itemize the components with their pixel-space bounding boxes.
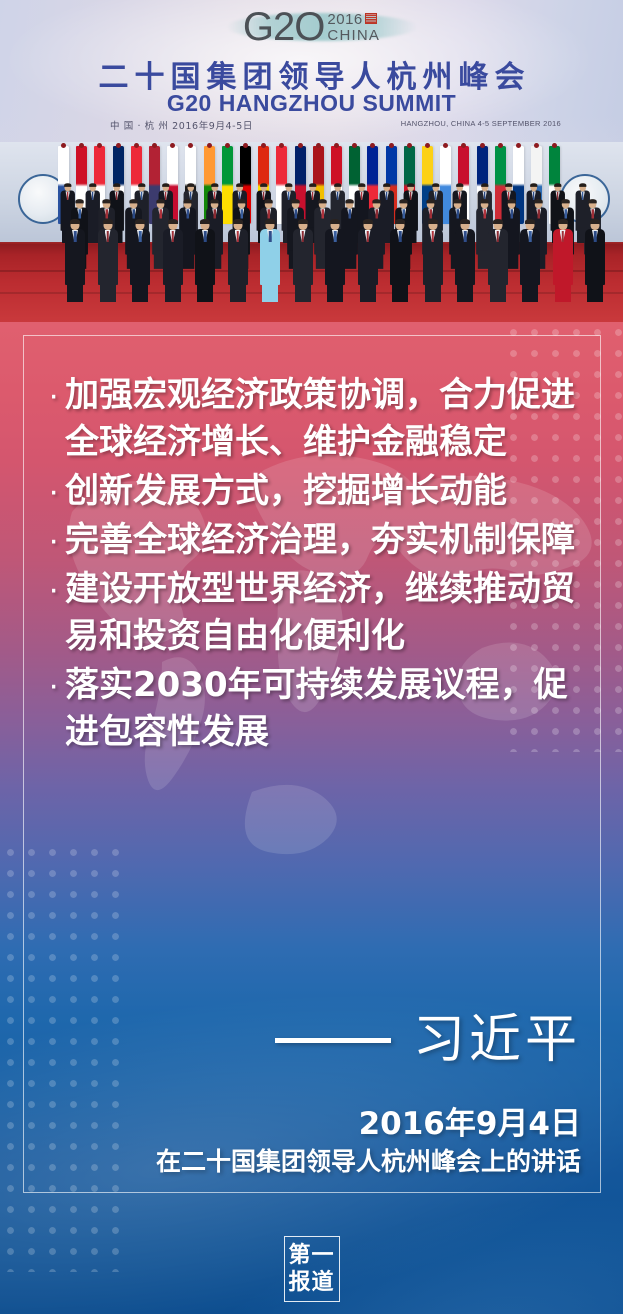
leader-figure — [227, 220, 249, 304]
flag-finial-icon — [61, 143, 66, 148]
key-point-item: ·建设开放型世界经济，继续推动贸易和投资自由化便利化 — [48, 566, 578, 660]
key-point-text: 建设开放型世界经济，继续推动贸易和投资自由化便利化 — [65, 566, 578, 660]
leader-figure — [97, 220, 119, 304]
flag-finial-icon — [516, 143, 521, 148]
publisher-badge[interactable]: 第一 报道 — [284, 1236, 340, 1302]
leader-figure — [454, 220, 476, 304]
flag-finial-icon — [389, 143, 394, 148]
flag-finial-icon — [298, 143, 303, 148]
flag-finial-icon — [316, 143, 321, 148]
chinese-seal-icon — [365, 13, 377, 24]
flag-finial-icon — [243, 143, 248, 148]
key-point-text: 创新发展方式，挖掘增长动能 — [65, 468, 578, 515]
leaders-family-photo — [0, 142, 623, 322]
bullet-marker-icon: · — [48, 566, 65, 613]
summit-meta-cn: 中 国 · 杭 州 2016年9月4-5日 — [110, 118, 253, 132]
flag-finial-icon — [334, 143, 339, 148]
header-banner: G2O 2016 CHINA 二十国集团领导人杭州峰会 G20 HANGZHOU… — [0, 0, 623, 142]
bullet-marker-icon: · — [48, 468, 65, 515]
flag-finial-icon — [480, 143, 485, 148]
flag-finial-icon — [134, 143, 139, 148]
leader-figure — [324, 220, 346, 304]
g20-logo: G2O 2016 CHINA — [0, 4, 623, 50]
leader-figure — [584, 220, 606, 304]
speech-occasion: 在二十国集团领导人杭州峰会上的讲话 — [156, 1142, 581, 1178]
flag-finial-icon — [498, 143, 503, 148]
flag-finial-icon — [407, 143, 412, 148]
key-point-item: ·落实2030年可持续发展议程，促进包容性发展 — [48, 662, 578, 756]
flag-finial-icon — [225, 143, 230, 148]
leader-figure — [487, 220, 509, 304]
bullet-marker-icon: · — [48, 517, 65, 564]
g20-summit-poster: G2O 2016 CHINA 二十国集团领导人杭州峰会 G20 HANGZHOU… — [0, 0, 623, 1314]
signature-block: 习近平 — [275, 1012, 581, 1068]
flag-finial-icon — [425, 143, 430, 148]
flag-finial-icon — [116, 143, 121, 148]
g20-logo-country: CHINA — [327, 28, 380, 43]
leader-figure — [194, 220, 216, 304]
leader-figure — [519, 220, 541, 304]
leader-figure — [87, 184, 98, 228]
summit-title-en: G20 HANGZHOU SUMMIT — [0, 90, 623, 117]
flag-finial-icon — [152, 143, 157, 148]
badge-line-2: 报道 — [288, 1269, 334, 1296]
key-points-list: ·加强宏观经济政策协调，合力促进全球经济增长、维护金融稳定·创新发展方式，挖掘增… — [48, 372, 578, 758]
leader-figure — [357, 220, 379, 304]
em-dash-icon — [275, 1038, 391, 1043]
flag-finial-icon — [207, 143, 212, 148]
key-point-item: ·完善全球经济治理，夯实机制保障 — [48, 517, 578, 564]
g20-logo-mark: G2O — [243, 7, 324, 47]
dot-pattern-left — [0, 842, 120, 1272]
key-point-item: ·加强宏观经济政策协调，合力促进全球经济增长、维护金融稳定 — [48, 372, 578, 466]
key-point-text: 加强宏观经济政策协调，合力促进全球经济增长、维护金融稳定 — [65, 372, 578, 466]
summit-meta-en: HANGZHOU, CHINA 4-5 SEPTEMBER 2016 — [401, 119, 561, 128]
leader-figure — [129, 220, 151, 304]
leader-figure — [292, 220, 314, 304]
badge-line-1: 第一 — [288, 1242, 334, 1269]
leader-figure — [64, 220, 86, 304]
leader-figure — [552, 220, 574, 304]
key-point-text: 完善全球经济治理，夯实机制保障 — [65, 517, 578, 564]
leader-figure — [259, 220, 281, 304]
bullet-marker-icon: · — [48, 372, 65, 419]
speech-date: 2016年9月4日 — [359, 1098, 581, 1143]
key-point-text: 落实2030年可持续发展议程，促进包容性发展 — [65, 662, 578, 756]
bullet-marker-icon: · — [48, 662, 65, 709]
key-point-item: ·创新发展方式，挖掘增长动能 — [48, 468, 578, 515]
g20-logo-year: 2016 — [327, 12, 362, 27]
leader-figure — [162, 220, 184, 304]
leader-figure — [389, 220, 411, 304]
speaker-name: 习近平 — [413, 1012, 581, 1068]
leader-figure — [422, 220, 444, 304]
national-flag — [222, 146, 233, 224]
